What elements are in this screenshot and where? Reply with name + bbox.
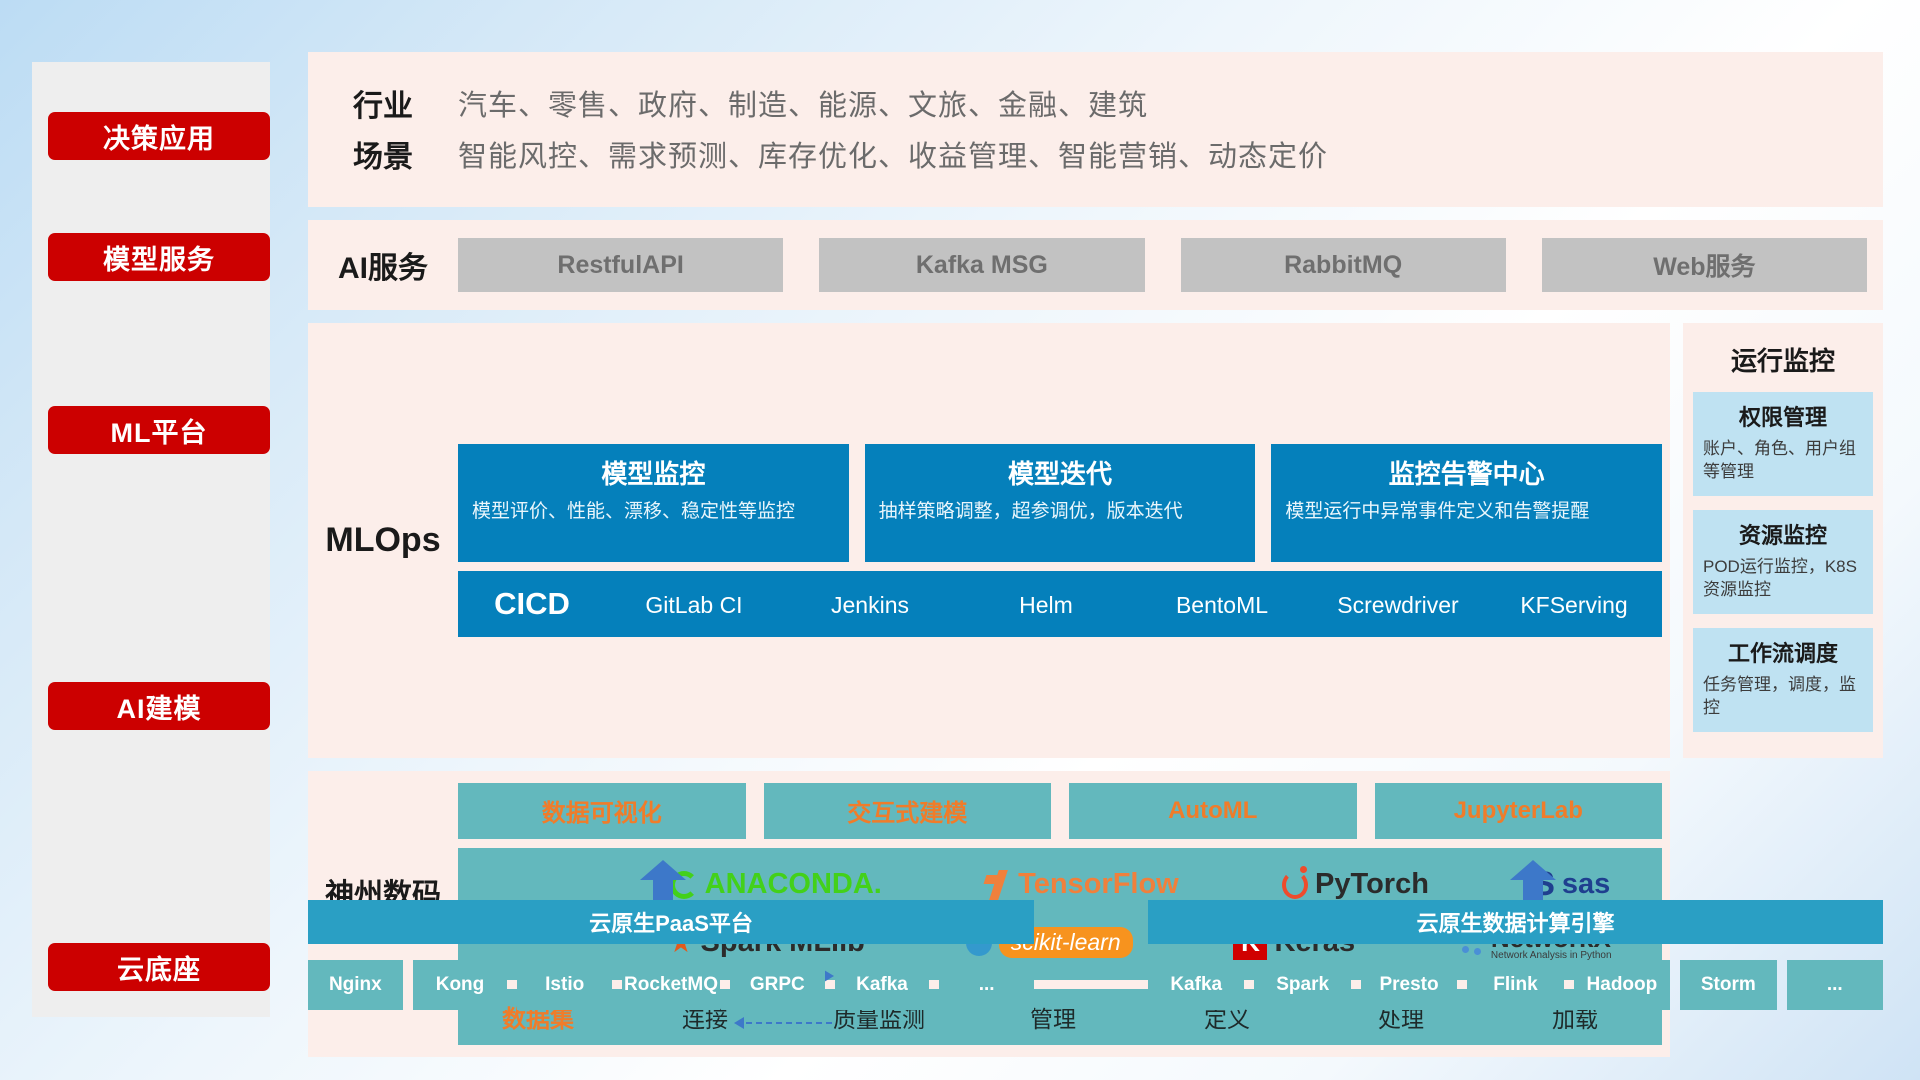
rail-item-cloud-base[interactable]: 云底座	[48, 943, 270, 991]
pytorch-logo-text: PyTorch	[1315, 868, 1429, 901]
ai-service-box-list: RestfulAPI Kafka MSG RabbitMQ Web服务	[458, 238, 1883, 292]
mlops-card-list: 模型监控 模型评价、性能、漂移、稳定性等监控 模型迭代 抽样策略调整，超参调优，…	[458, 444, 1662, 562]
data-engine-chip-more[interactable]: ...	[1787, 960, 1883, 1010]
cicd-item-list: GitLab CI Jenkins Helm BentoML Screwdriv…	[606, 590, 1662, 617]
rail-item-decision-app[interactable]: 决策应用	[48, 112, 270, 160]
cicd-item-gitlab[interactable]: GitLab CI	[606, 590, 782, 617]
cicd-item-helm[interactable]: Helm	[958, 590, 1134, 617]
data-engine-chip-list: Kafka Spark Presto Flink Hadoop Storm ..…	[1148, 960, 1883, 1010]
mlops-section: MLOps 模型监控 模型评价、性能、漂移、稳定性等监控 模型迭代 抽样策略调整…	[308, 323, 1670, 758]
monitor-card-resource[interactable]: 资源监控 POD运行监控，K8S资源监控	[1693, 510, 1873, 614]
cicd-item-jenkins[interactable]: Jenkins	[782, 590, 958, 617]
industry-label: 行业	[308, 81, 458, 125]
paas-chip-more[interactable]: ...	[939, 960, 1034, 1010]
anaconda-logo: ANACONDA.	[670, 868, 882, 901]
ml-lab-tool-jupyterlab[interactable]: JupyterLab	[1375, 783, 1663, 839]
mlops-card-title: 模型迭代	[879, 454, 1242, 491]
ai-service-box-web[interactable]: Web服务	[1542, 238, 1867, 292]
data-engine-column: 云原生数据计算引擎 Kafka Spark Presto Flink Hadoo…	[1148, 900, 1883, 1010]
mlops-card-desc: 抽样策略调整，超参调优，版本迭代	[879, 499, 1242, 525]
ai-service-label: AI服务	[308, 243, 458, 287]
data-engine-chip-kafka[interactable]: Kafka	[1148, 960, 1244, 1010]
paas-chip-nginx[interactable]: Nginx	[308, 960, 403, 1010]
cicd-item-bentoml[interactable]: BentoML	[1134, 590, 1310, 617]
data-engine-chip-storm[interactable]: Storm	[1680, 960, 1776, 1010]
mlops-card-desc: 模型评价、性能、漂移、稳定性等监控	[472, 499, 835, 525]
mlops-card-title: 模型监控	[472, 454, 835, 491]
monitor-card-desc: POD运行监控，K8S资源监控	[1703, 556, 1863, 602]
rail-item-ai-modeling[interactable]: AI建模	[48, 682, 270, 730]
rail-item-ml-platform[interactable]: ML平台	[48, 406, 270, 454]
paas-column: 云原生PaaS平台 Nginx Kong Istio RocketMQ GRPC…	[308, 900, 1034, 1010]
cicd-label: CICD	[458, 586, 606, 622]
cicd-item-screwdriver[interactable]: Screwdriver	[1310, 590, 1486, 617]
monitor-card-desc: 任务管理，调度，监控	[1703, 674, 1863, 720]
rail-item-model-service[interactable]: 模型服务	[48, 233, 270, 281]
pytorch-flame-icon	[1282, 871, 1308, 899]
monitor-card-title: 权限管理	[1703, 400, 1863, 432]
mlops-card-model-iteration[interactable]: 模型迭代 抽样策略调整，超参调优，版本迭代	[865, 444, 1256, 562]
monitor-card-title: 资源监控	[1703, 518, 1863, 550]
cicd-item-kfserving[interactable]: KFServing	[1486, 590, 1662, 617]
ml-lab-tool-list: 数据可视化 交互式建模 AutoML JupyterLab	[458, 783, 1662, 839]
paas-chip-kafka[interactable]: Kafka	[835, 960, 930, 1010]
data-engine-chip-flink[interactable]: Flink	[1467, 960, 1563, 1010]
mlops-card-alert-center[interactable]: 监控告警中心 模型运行中异常事件定义和告警提醒	[1271, 444, 1662, 562]
mlops-card-desc: 模型运行中异常事件定义和告警提醒	[1285, 499, 1648, 525]
mlops-row: MLOps 模型监控 模型评价、性能、漂移、稳定性等监控 模型迭代 抽样策略调整…	[308, 323, 1883, 758]
paas-chip-istio[interactable]: Istio	[517, 960, 612, 1010]
tensorflow-mark-icon	[985, 870, 1011, 900]
scenario-value: 智能风控、需求预测、库存优化、收益管理、智能营销、动态定价	[458, 133, 1328, 175]
monitor-card-workflow[interactable]: 工作流调度 任务管理，调度，监控	[1693, 628, 1873, 732]
runtime-monitor-panel: 运行监控 权限管理 账户、角色、用户组等管理 资源监控 POD运行监控，K8S资…	[1683, 323, 1883, 758]
runtime-monitor-title: 运行监控	[1693, 341, 1873, 378]
mlops-content: 模型监控 模型评价、性能、漂移、稳定性等监控 模型迭代 抽样策略调整，超参调优，…	[458, 444, 1670, 637]
mlops-card-model-monitoring[interactable]: 模型监控 模型评价、性能、漂移、稳定性等监控	[458, 444, 849, 562]
data-engine-chip-presto[interactable]: Presto	[1361, 960, 1457, 1010]
tensorflow-logo: TensorFlow	[985, 868, 1179, 901]
paas-title: 云原生PaaS平台	[308, 900, 1034, 944]
monitor-card-permission[interactable]: 权限管理 账户、角色、用户组等管理	[1693, 392, 1873, 496]
tensorflow-logo-text: TensorFlow	[1018, 868, 1179, 901]
data-engine-chip-spark[interactable]: Spark	[1254, 960, 1350, 1010]
anaconda-logo-text: ANACONDA.	[705, 868, 882, 901]
scenario-label: 场景	[308, 132, 458, 176]
paas-chip-rocketmq[interactable]: RocketMQ	[622, 960, 720, 1010]
arrow-up-paas-icon	[640, 860, 686, 902]
industry-section: 行业 汽车、零售、政府、制造、能源、文旅、金融、建筑 场景 智能风控、需求预测、…	[308, 52, 1883, 207]
paas-chip-list: Nginx Kong Istio RocketMQ GRPC Kafka ...	[308, 960, 1034, 1010]
ai-service-box-restful[interactable]: RestfulAPI	[458, 238, 783, 292]
paas-chip-grpc[interactable]: GRPC	[730, 960, 825, 1010]
ml-lab-tool-automl[interactable]: AutoML	[1069, 783, 1357, 839]
ai-service-section: AI服务 RestfulAPI Kafka MSG RabbitMQ Web服务	[308, 220, 1883, 310]
diagram-canvas: 决策应用 模型服务 ML平台 AI建模 云底座 行业 汽车、零售、政府、制造、能…	[0, 0, 1920, 1080]
pytorch-logo: PyTorch	[1282, 868, 1429, 901]
monitor-card-title: 工作流调度	[1703, 636, 1863, 668]
cloud-base-section: 云原生PaaS平台 Nginx Kong Istio RocketMQ GRPC…	[308, 900, 1883, 1060]
paas-chip-kong[interactable]: Kong	[413, 960, 508, 1010]
mlops-card-title: 监控告警中心	[1285, 454, 1648, 491]
industry-row: 行业 汽车、零售、政府、制造、能源、文旅、金融、建筑	[308, 81, 1883, 125]
mlops-label: MLOps	[308, 521, 458, 560]
ml-lab-tool-interactive-modeling[interactable]: 交互式建模	[764, 783, 1052, 839]
monitor-card-desc: 账户、角色、用户组等管理	[1703, 438, 1863, 484]
data-engine-title: 云原生数据计算引擎	[1148, 900, 1883, 944]
data-engine-chip-hadoop[interactable]: Hadoop	[1574, 960, 1670, 1010]
scenario-row: 场景 智能风控、需求预测、库存优化、收益管理、智能营销、动态定价	[308, 132, 1883, 176]
cicd-bar: CICD GitLab CI Jenkins Helm BentoML Scre…	[458, 571, 1662, 637]
sas-logo-text: sas	[1562, 868, 1610, 901]
ml-lab-tool-data-visualization[interactable]: 数据可视化	[458, 783, 746, 839]
layer-rail	[32, 62, 270, 1017]
industry-value: 汽车、零售、政府、制造、能源、文旅、金融、建筑	[458, 82, 1148, 124]
arrow-up-data-engine-icon	[1510, 860, 1556, 902]
ai-service-box-rabbitmq[interactable]: RabbitMQ	[1181, 238, 1506, 292]
ai-service-box-kafka[interactable]: Kafka MSG	[819, 238, 1144, 292]
